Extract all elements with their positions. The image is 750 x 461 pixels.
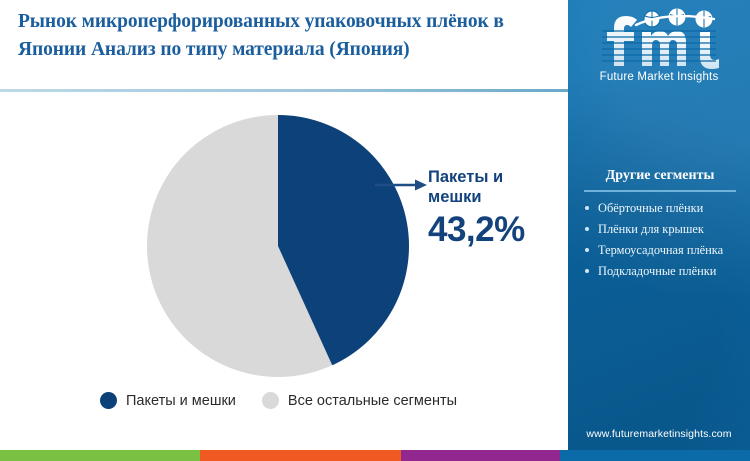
bullet-icon — [585, 206, 589, 210]
pie-chart — [147, 115, 409, 377]
callout-arrow-icon — [375, 178, 427, 192]
page-title: Рынок микроперфорированных упаковочных п… — [18, 8, 548, 63]
bar-segment-purple — [401, 450, 561, 461]
legend-item-other-segments[interactable]: Все остальные сегменты — [262, 392, 457, 409]
bullet-icon — [585, 269, 589, 273]
list-item: Плёнки для крышек — [582, 221, 738, 239]
list-item-label: Обёрточные плёнки — [598, 201, 703, 215]
infographic-root: Рынок микроперфорированных упаковочных п… — [0, 0, 750, 461]
legend-label: Все остальные сегменты — [288, 393, 457, 409]
legend-label: Пакеты и мешки — [126, 393, 236, 409]
legend-swatch-icon — [262, 392, 279, 409]
bar-segment-blue — [560, 450, 750, 461]
bottom-color-bar — [0, 450, 750, 461]
fmi-logo-icon — [584, 8, 734, 70]
bar-segment-green — [0, 450, 200, 461]
list-item: Термоусадочная плёнка — [582, 242, 738, 260]
other-segments-panel: Другие сегменты Обёрточные плёнки Плёнки… — [582, 168, 738, 284]
title-block: Рынок микроперфорированных упаковочных п… — [18, 8, 548, 63]
pie-chart-svg — [147, 115, 409, 377]
list-item: Обёрточные плёнки — [582, 200, 738, 218]
brand-logo: Future Market Insights — [568, 8, 750, 83]
callout-block: Пакеты и мешки 43,2% — [428, 168, 553, 247]
title-divider — [0, 89, 568, 92]
other-segments-divider — [584, 190, 736, 192]
chart-legend: Пакеты и мешки Все остальные сегменты — [100, 392, 457, 409]
list-item: Подкладочные плёнки — [582, 263, 738, 281]
callout-value: 43,2% — [428, 212, 553, 247]
bar-segment-orange — [200, 450, 400, 461]
side-panel: Future Market Insights Другие сегменты О… — [568, 0, 750, 461]
bullet-icon — [585, 227, 589, 231]
other-segments-heading: Другие сегменты — [582, 168, 738, 184]
bullet-icon — [585, 248, 589, 252]
list-item-label: Термоусадочная плёнка — [598, 243, 723, 257]
website-url[interactable]: www.futuremarketinsights.com — [568, 428, 750, 440]
legend-swatch-icon — [100, 392, 117, 409]
brand-tagline: Future Market Insights — [568, 71, 750, 83]
callout-label: Пакеты и мешки — [428, 168, 553, 208]
list-item-label: Подкладочные плёнки — [598, 264, 716, 278]
legend-item-packets-and-bags[interactable]: Пакеты и мешки — [100, 392, 236, 409]
list-item-label: Плёнки для крышек — [598, 222, 704, 236]
